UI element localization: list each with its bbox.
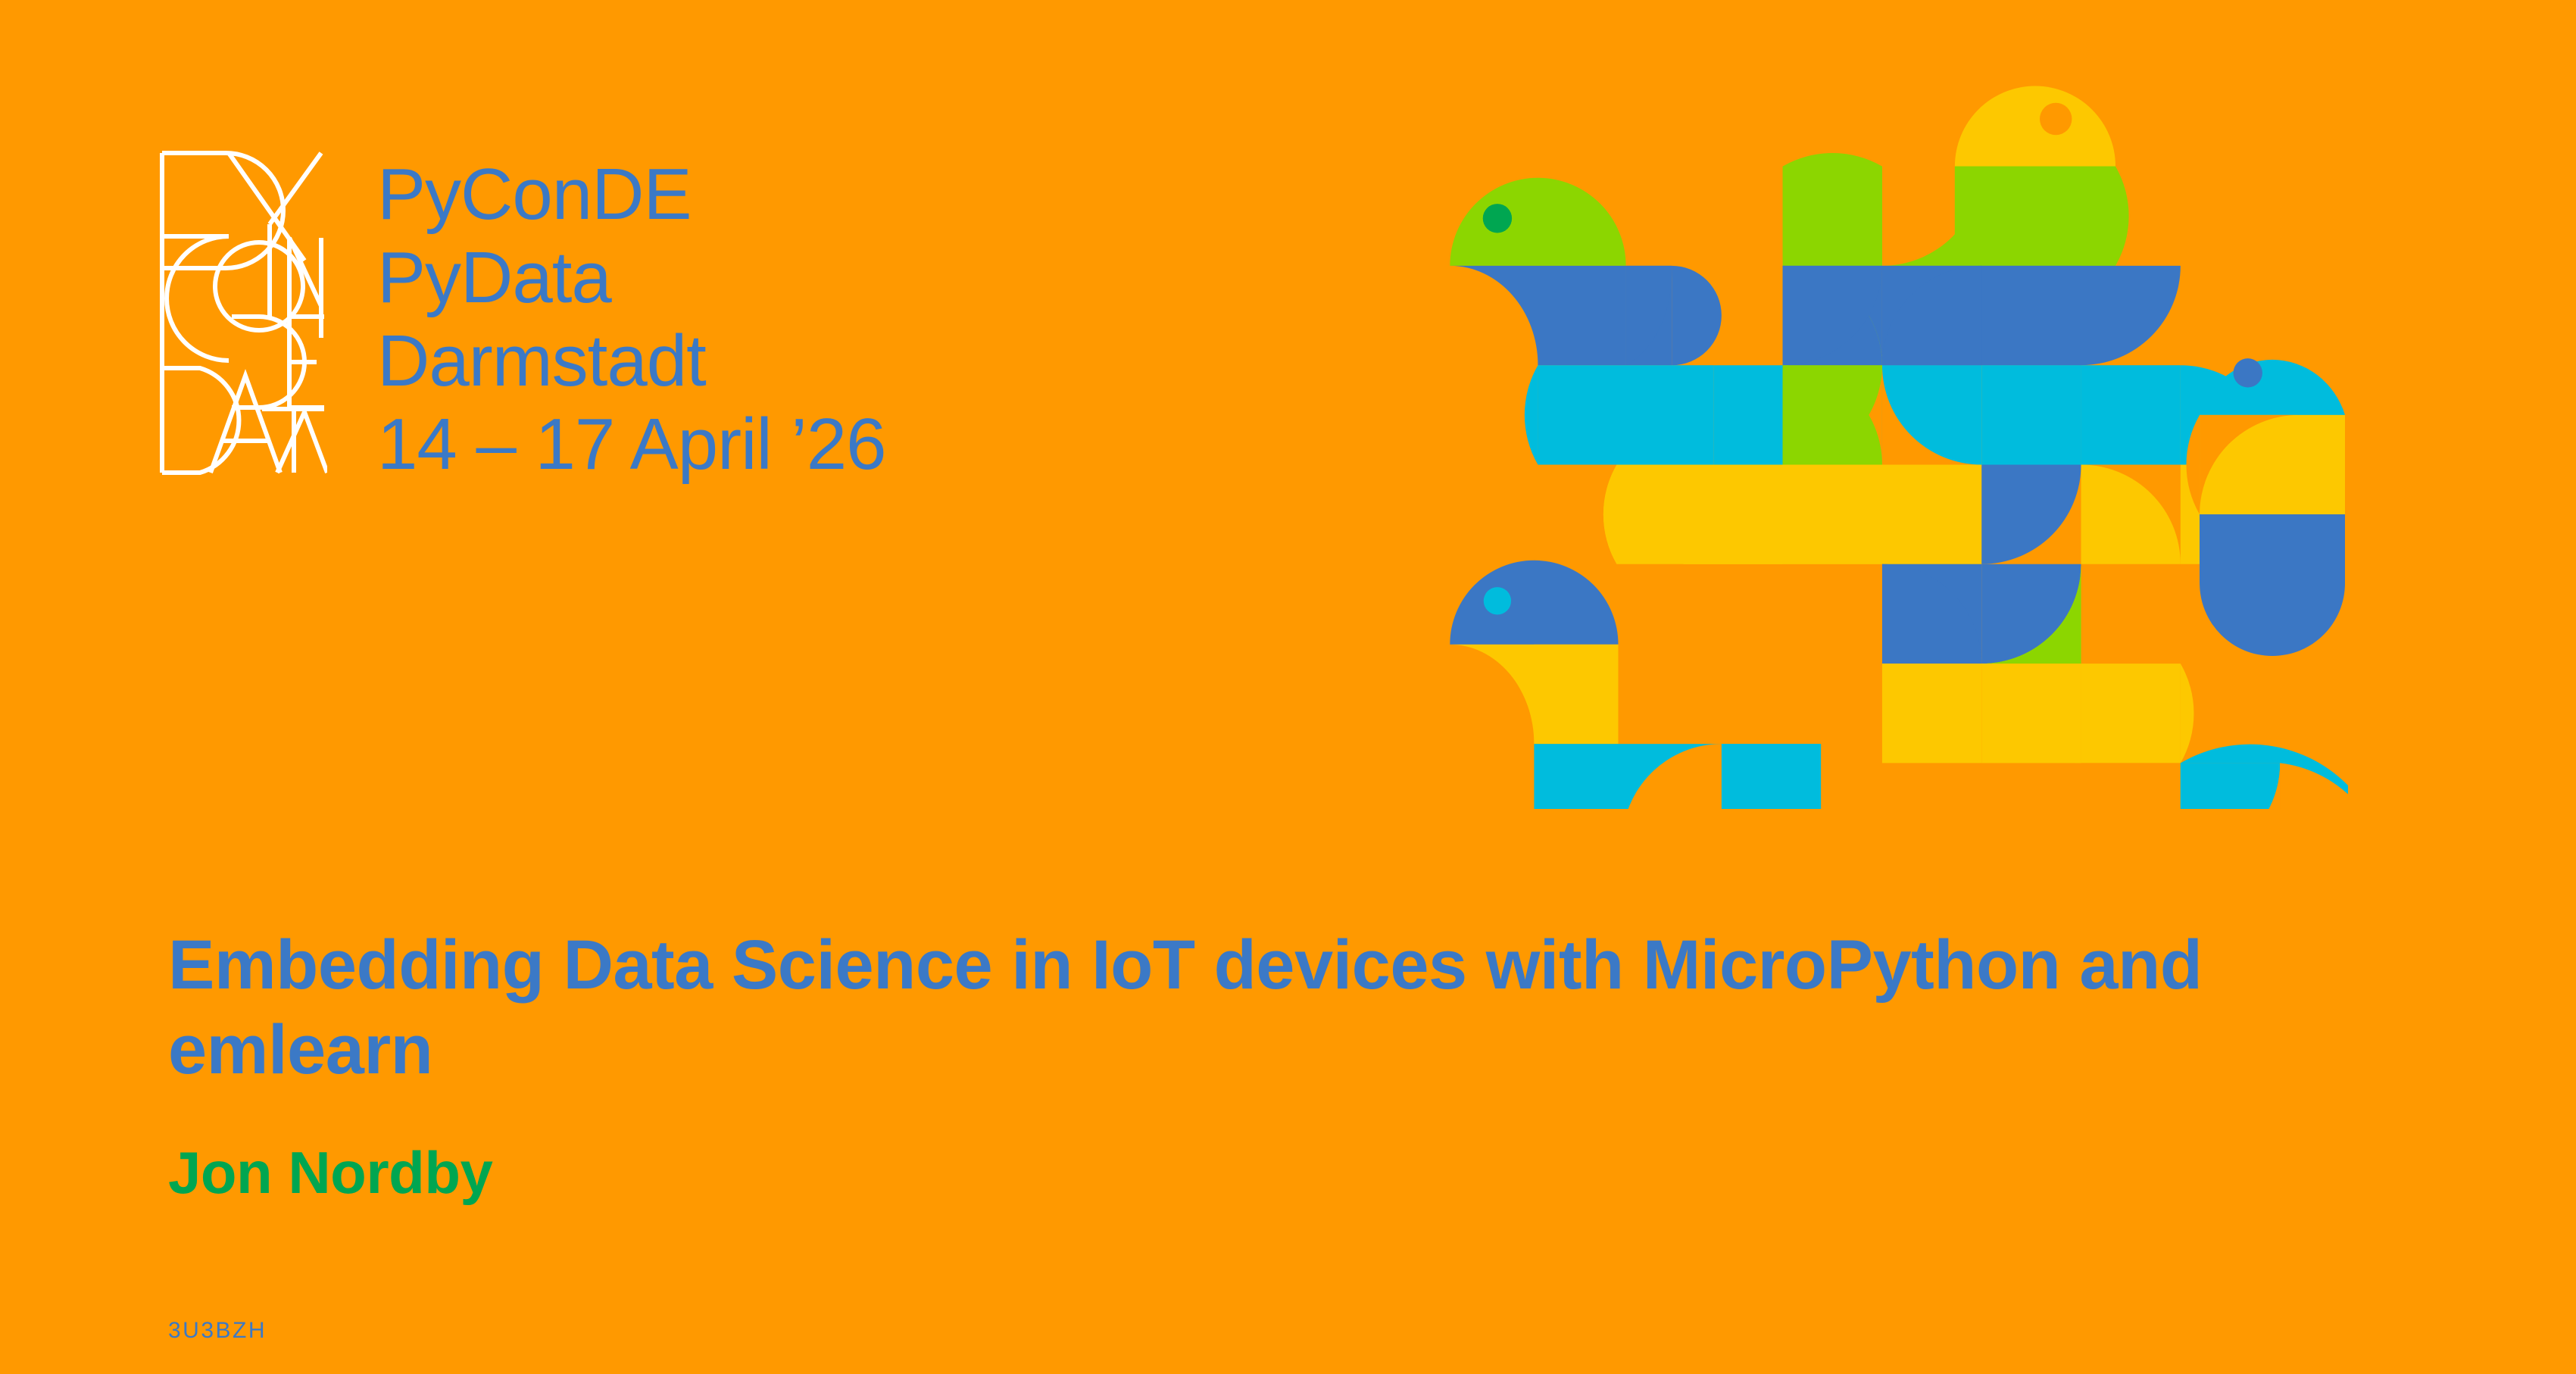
talk-info-block: Embedding Data Science in IoT devices wi… <box>168 923 2425 1207</box>
talk-title: Embedding Data Science in IoT devices wi… <box>168 923 2403 1092</box>
brand-line-darmstadt: Darmstadt <box>377 320 886 403</box>
session-code: 3U3BZH <box>168 1318 267 1344</box>
slide-canvas: PyConDE PyData Darmstadt 14 – 17 April ’… <box>0 0 2576 1374</box>
brand-line-pyconde: PyConDE <box>377 153 886 236</box>
brand-lockup: PyConDE PyData Darmstadt 14 – 17 April ’… <box>156 148 886 486</box>
speaker-name: Jon Nordby <box>168 1138 2425 1207</box>
brand-line-dates: 14 – 17 April ’26 <box>377 403 886 486</box>
abstract-bird-mosaic-illustration <box>1424 44 2348 809</box>
pyconde-pydata-logo-icon <box>156 148 327 477</box>
bird-mosaic-icon <box>1424 44 2348 809</box>
brand-line-pydata: PyData <box>377 236 886 320</box>
brand-text-lines: PyConDE PyData Darmstadt 14 – 17 April ’… <box>377 148 886 486</box>
